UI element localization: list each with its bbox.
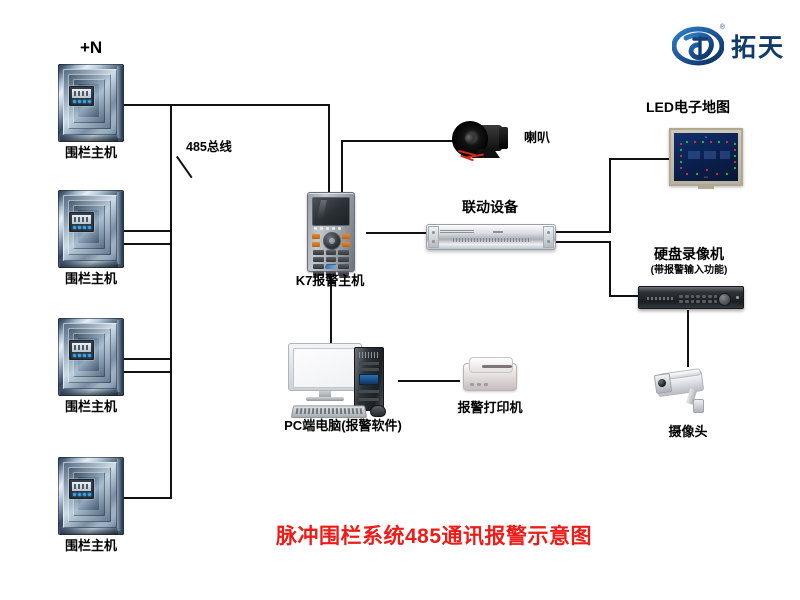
wire-host3-stub-b [122, 371, 172, 373]
dvr-label: 硬盘录像机 [629, 246, 749, 262]
fence-host-label-1: 围栏主机 [58, 146, 124, 161]
fence-host-label-2: 围栏主机 [58, 272, 124, 287]
wire-host2-jog [170, 230, 172, 244]
pc-label: PC端电脑(报警软件) [258, 419, 428, 434]
wire-host1-stub [122, 104, 172, 106]
brand-name: 拓天 [731, 28, 785, 64]
cctv-camera-icon[interactable] [655, 369, 717, 419]
wire-bus-top [170, 104, 330, 106]
fence-host-label-3: 围栏主机 [58, 400, 124, 415]
camera-label: 摄像头 [650, 425, 726, 440]
wire-host3-stub [122, 358, 172, 360]
diagram-canvas: ® 拓天 485总线 +N 围栏主机 [0, 0, 800, 600]
rack-unit-icon[interactable] [426, 224, 556, 250]
plus-n-label: +N [80, 38, 102, 58]
dvr-sublabel: (带报警输入功能) [629, 265, 749, 277]
bus-label-pointer [176, 156, 193, 178]
horn-speaker-icon[interactable] [452, 119, 516, 165]
bus-label: 485总线 [186, 136, 232, 155]
wire-host2-stub [122, 230, 172, 232]
wire-k7-to-speaker [341, 140, 455, 142]
topteam-swirl-logo-icon: ® [672, 26, 724, 66]
wire-linkage-to-dvr [554, 241, 611, 243]
fence-host-icon-2[interactable] [58, 190, 124, 268]
wire-host2-stub-b [122, 243, 172, 245]
speaker-label: 喇叭 [514, 131, 560, 146]
fence-host-icon-4[interactable] [58, 457, 124, 535]
led-map-label: LED电子地图 [628, 99, 748, 115]
dvr-icon[interactable] [638, 286, 744, 309]
wire-k7-speaker-drop [341, 140, 343, 192]
linkage-label: 联动设备 [437, 199, 543, 215]
thermal-printer-icon[interactable] [463, 355, 517, 391]
printer-label: 报警打印机 [448, 401, 532, 416]
wire-ledmap-feed [609, 158, 672, 160]
wire-bus-trunk [170, 104, 172, 499]
desktop-computer-icon[interactable] [288, 343, 396, 417]
brand-logo: ® 拓天 [672, 26, 785, 66]
wire-bus-to-k7 [328, 104, 330, 192]
wire-linkage-to-ledmap [554, 231, 611, 233]
alarm-keypad-icon[interactable] [307, 192, 355, 272]
wire-ledmap-riser [609, 158, 611, 233]
wire-host3-jog [170, 358, 172, 372]
wire-dvr-to-camera [687, 310, 689, 367]
diagram-title: 脉冲围栏系统485通讯报警示意图 [276, 520, 592, 550]
wire-dvr-riser [609, 241, 611, 297]
registered-mark: ® [720, 24, 725, 31]
wire-host4-stub [122, 497, 172, 499]
fence-host-icon-3[interactable] [58, 318, 124, 396]
fence-host-label-4: 围栏主机 [58, 539, 124, 554]
led-map-stand [698, 186, 714, 189]
wire-pc-to-printer [398, 380, 460, 382]
led-map-icon[interactable]: ▪▪ ▪▪▪▪ [669, 128, 743, 186]
wire-k7-to-linkage [366, 232, 426, 234]
alarm-host-label: K7报警主机 [283, 274, 377, 289]
fence-host-icon-1[interactable] [58, 64, 124, 142]
